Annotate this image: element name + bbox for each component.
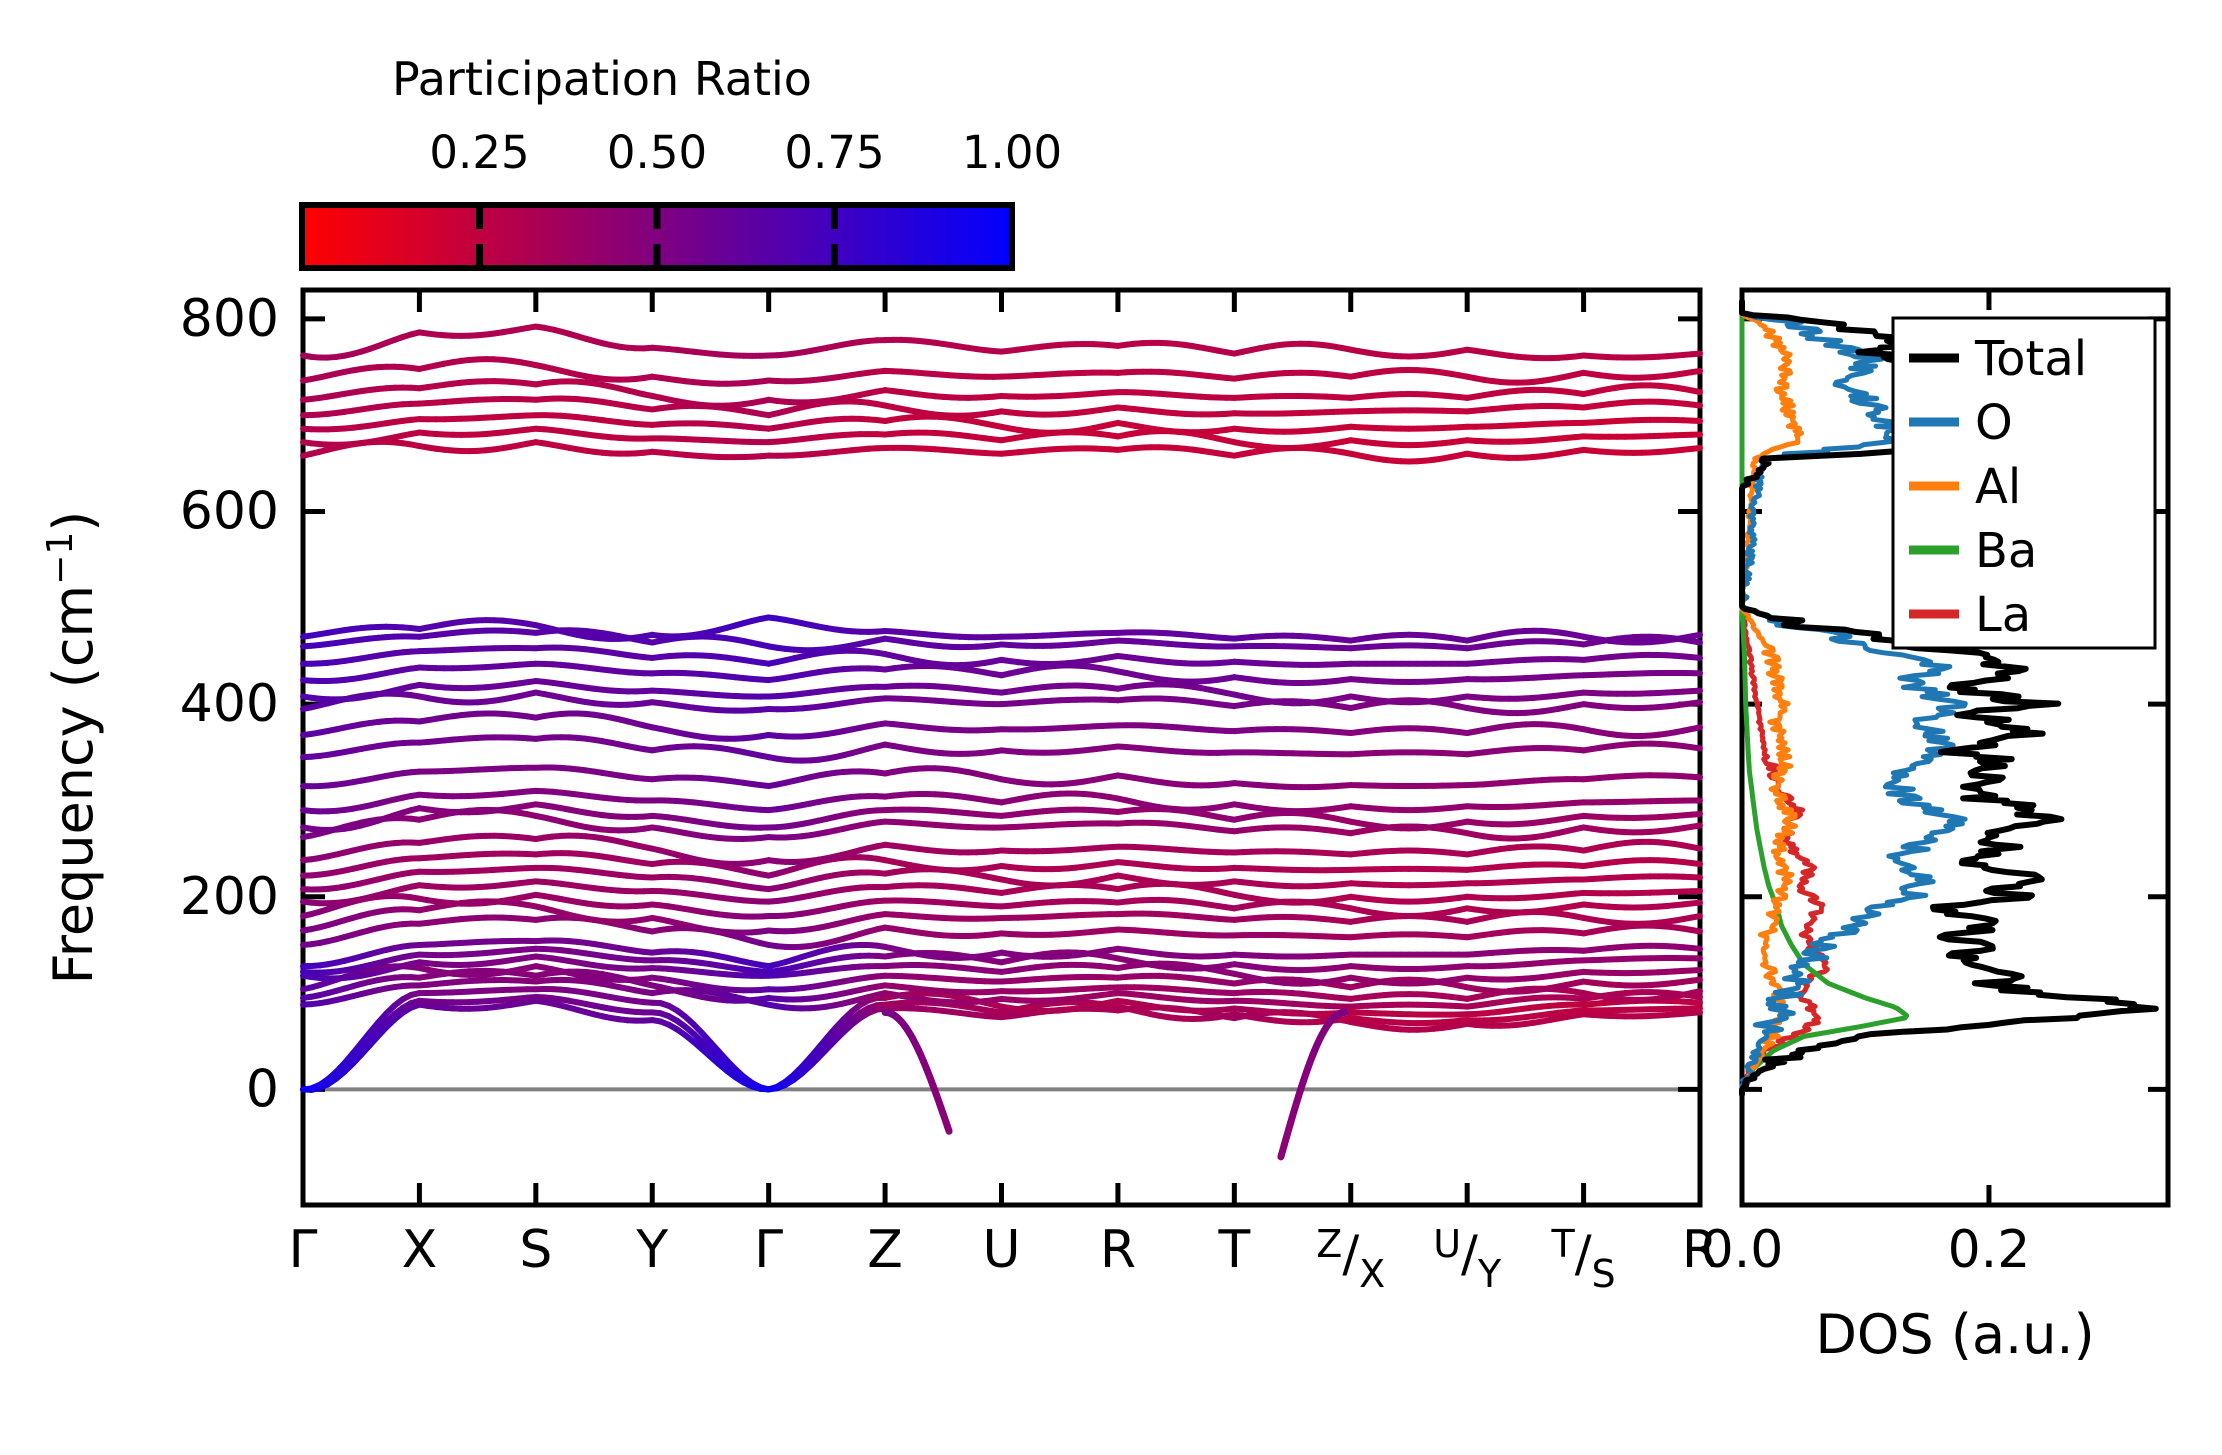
colorbar-tick-label: 0.25 bbox=[429, 126, 529, 179]
band-y-tick-label: 200 bbox=[180, 867, 279, 927]
colorbar-tick-label: 0.75 bbox=[784, 126, 884, 179]
band-x-tick-label: Y bbox=[635, 1220, 668, 1280]
band-y-axis-label: Frequency (cm−1) bbox=[40, 511, 106, 985]
band-branch-segment bbox=[1692, 948, 1700, 949]
band-x-tick-label: R bbox=[1100, 1220, 1136, 1280]
band-branch-segment bbox=[1692, 747, 1700, 748]
band-branch-segment bbox=[1692, 777, 1700, 778]
band-branch-segment bbox=[1692, 641, 1700, 642]
band-x-tick-label: T/S bbox=[1550, 1222, 1615, 1296]
colorbar-group: 0.250.500.751.00Participation Ratio bbox=[302, 52, 1062, 268]
band-branch-segment bbox=[1692, 996, 1700, 997]
band-branch-segment bbox=[1692, 826, 1700, 827]
band-y-tick-label: 400 bbox=[180, 674, 279, 734]
colorbar-tick-label: 0.50 bbox=[607, 126, 707, 179]
band-branch-segment bbox=[1692, 702, 1700, 703]
band-branch-segment bbox=[1692, 1012, 1700, 1013]
band-x-tick-label: T bbox=[1217, 1220, 1250, 1280]
band-branch-segment bbox=[1692, 847, 1700, 849]
band-x-tick-label: Γ bbox=[289, 1220, 318, 1280]
band-branch-segment bbox=[1692, 635, 1700, 637]
band-branch-segment bbox=[1692, 930, 1700, 931]
band-branch-segment bbox=[1692, 916, 1700, 918]
band-branch-segment bbox=[1692, 980, 1700, 981]
band-x-tick-label: U/Y bbox=[1433, 1222, 1502, 1296]
band-structure-panel: 0200400600800Frequency (cm−1)ΓXSYΓZURTZ/… bbox=[40, 289, 1719, 1296]
band-y-tick-label: 800 bbox=[180, 289, 279, 349]
band-x-tick-label: U bbox=[982, 1220, 1020, 1280]
band-x-tick-label: X bbox=[402, 1220, 438, 1280]
band-x-tick-label: S bbox=[519, 1220, 552, 1280]
band-branch-segment bbox=[1692, 903, 1700, 904]
figure-canvas: 0.250.500.751.00Participation Ratio02004… bbox=[0, 0, 2222, 1455]
band-y-tick-label: 600 bbox=[180, 482, 279, 542]
colorbar-tick-label: 1.00 bbox=[962, 126, 1062, 179]
band-branch-segment bbox=[1692, 1002, 1700, 1003]
band-y-tick-label: 0 bbox=[246, 1059, 279, 1119]
band-branch-segment bbox=[1692, 727, 1700, 729]
band-curves bbox=[303, 327, 1700, 1157]
phonon-figure: 0.250.500.751.00Participation Ratio02004… bbox=[0, 0, 2222, 1455]
band-branch-segment bbox=[1692, 814, 1700, 815]
band-x-tick-label: Z/X bbox=[1316, 1222, 1385, 1296]
band-x-tick-label: Z bbox=[867, 1220, 903, 1280]
band-branch-segment bbox=[1692, 448, 1700, 449]
colorbar-title: Participation Ratio bbox=[392, 52, 812, 106]
band-branch-segment bbox=[1692, 863, 1700, 864]
band-x-tick-label: Γ bbox=[754, 1220, 783, 1280]
band-branch-segment bbox=[1692, 657, 1700, 658]
band-branch-segment bbox=[1692, 991, 1700, 993]
